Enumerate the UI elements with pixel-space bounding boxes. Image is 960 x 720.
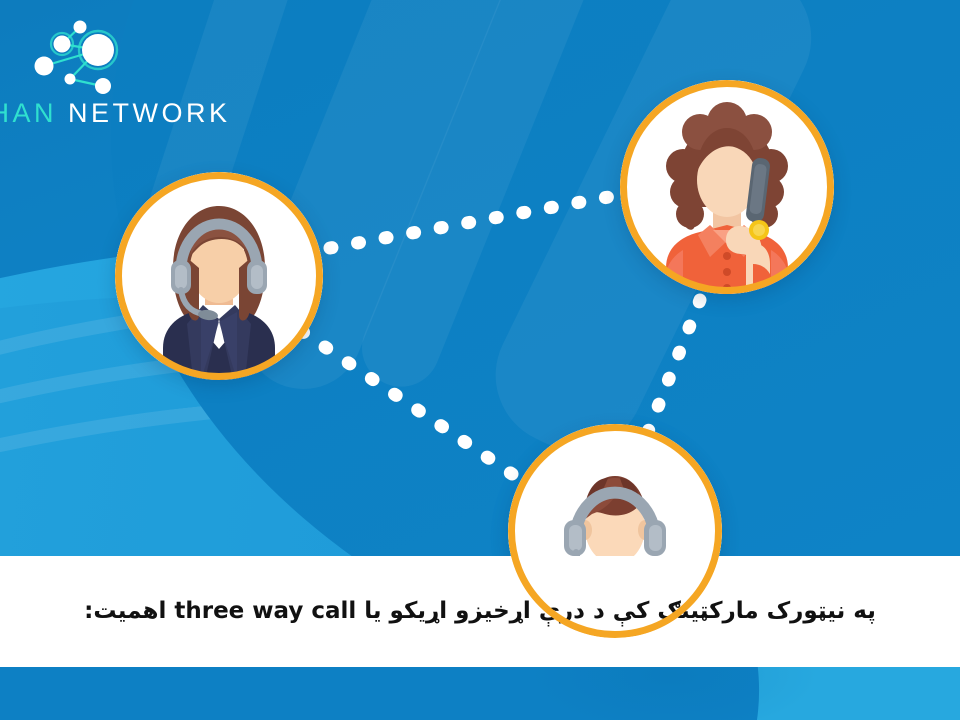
brand-name-part1: XHAN xyxy=(0,98,57,128)
avatar-call-center-agent-female[interactable] xyxy=(115,172,323,380)
avatar-topright-illustration xyxy=(620,80,834,294)
caption-bar: په نیټورک مارکټینګ کې د درې اړخیزو اړیکو… xyxy=(0,556,960,667)
connector-left-to-topright xyxy=(330,196,614,248)
brand-logo[interactable]: XHAN NETWORK xyxy=(0,10,222,130)
bottom-strip-shadow xyxy=(520,667,820,720)
avatar-left-illustration xyxy=(115,172,323,380)
connector-topright-to-bottom xyxy=(648,300,700,432)
brand-wordmark: XHAN NETWORK xyxy=(0,98,231,129)
network-nodes-icon xyxy=(24,14,144,98)
connector-bottom-to-left xyxy=(300,330,512,474)
caption-headline: په نیټورک مارکټینګ کې د درې اړخیزو اړیکو… xyxy=(84,598,876,626)
avatar-caller-female[interactable] xyxy=(620,80,834,294)
brand-name-part2: NETWORK xyxy=(68,98,231,128)
bottom-accent-strip xyxy=(0,667,960,720)
slide-canvas: XHAN NETWORK xyxy=(0,0,960,720)
